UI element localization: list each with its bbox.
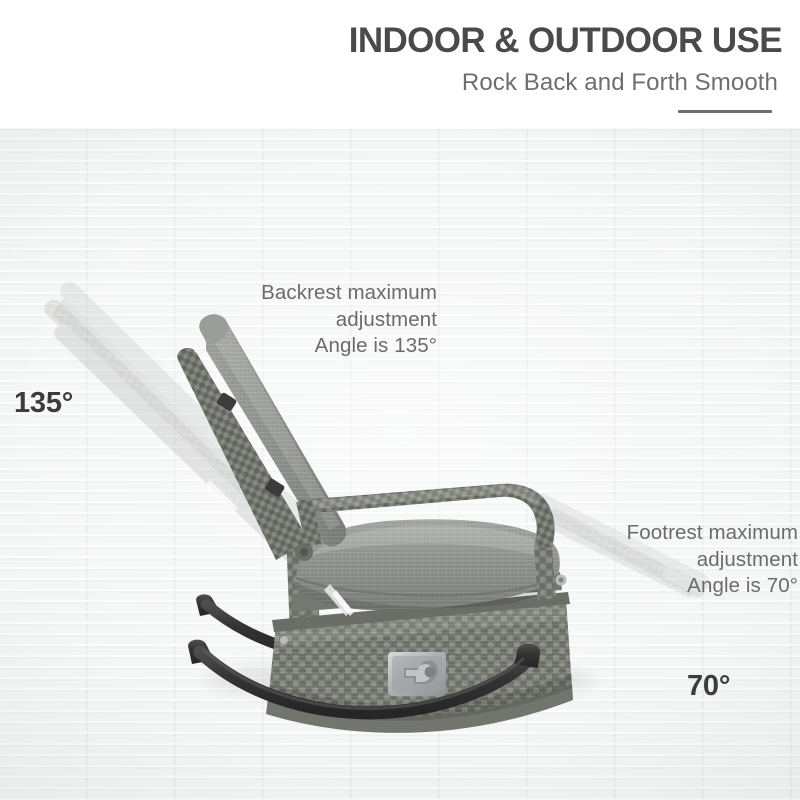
product-scene: Backrest maximum adjustment Angle is 135…	[0, 128, 800, 800]
recline-lever-plate[interactable]	[388, 652, 446, 696]
base-rivet	[280, 636, 288, 644]
rocking-recliner-illustration	[0, 128, 800, 800]
angle-badge-backrest: 135°	[14, 387, 73, 420]
callout-backrest-line1: Backrest maximum	[0, 280, 437, 307]
page-title: INDOOR & OUTDOOR USE	[0, 19, 782, 63]
callout-footrest-line2: adjustment	[570, 547, 798, 574]
angle-badge-footrest: 70°	[687, 670, 730, 703]
product-marketing-image: INDOOR & OUTDOOR USE Rock Back and Forth…	[0, 0, 800, 800]
callout-backrest: Backrest maximum adjustment Angle is 135…	[0, 280, 437, 360]
callout-backrest-line2: adjustment	[0, 307, 437, 334]
callout-footrest-line3: Angle is 70°	[570, 573, 798, 600]
callout-footrest-line1: Footrest maximum	[570, 520, 798, 547]
callout-backrest-line3: Angle is 135°	[0, 333, 437, 360]
accent-rule-divider	[678, 110, 772, 113]
footrest-hinge-bracket	[556, 575, 567, 586]
page-subtitle: Rock Back and Forth Smooth	[0, 68, 778, 98]
header-band: INDOOR & OUTDOOR USE Rock Back and Forth…	[0, 0, 800, 128]
callout-footrest: Footrest maximum adjustment Angle is 70°	[570, 520, 798, 600]
